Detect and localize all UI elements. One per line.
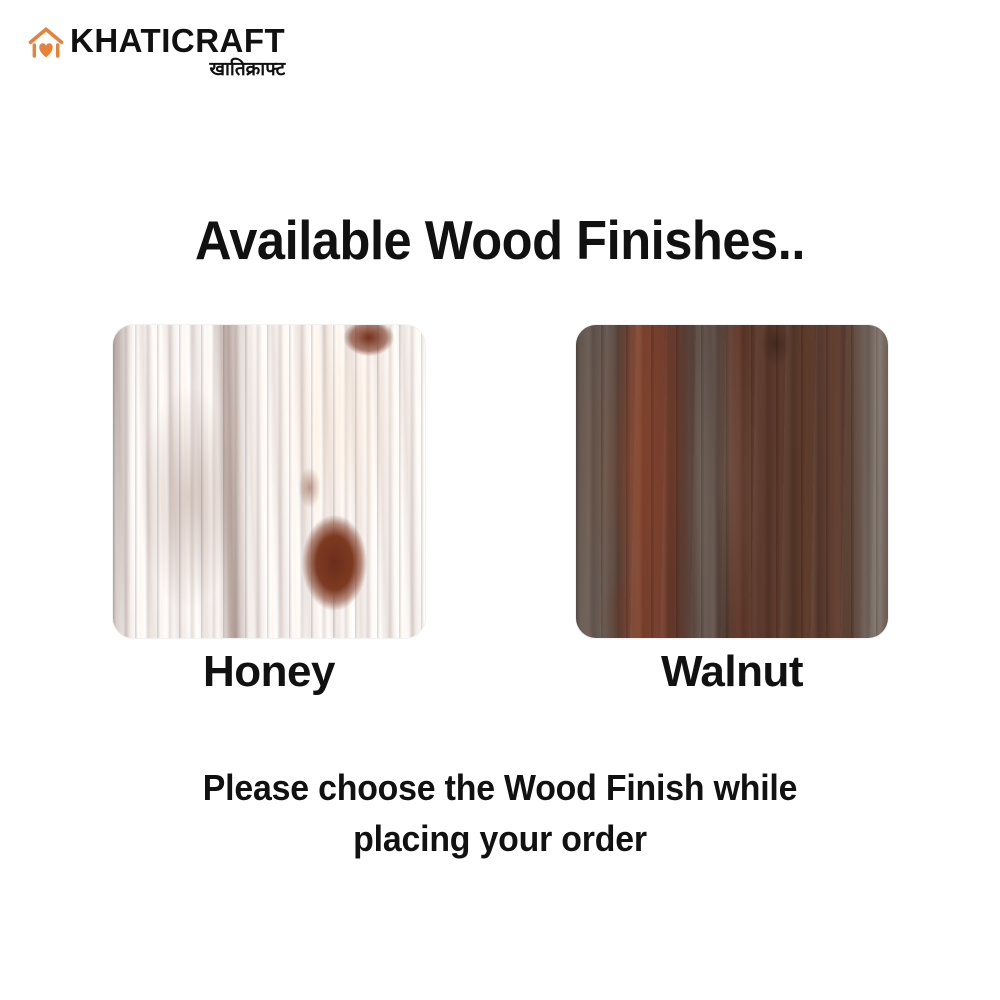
instruction-caption: Please choose the Wood Finish while plac… [0,762,1000,864]
finish-label-walnut: Walnut [576,648,888,696]
brand-name-devanagari: खातिक्राफ्ट [209,59,285,81]
instruction-caption-line-1: Please choose the Wood Finish while [30,762,970,813]
honey-wood-swatch[interactable] [113,325,425,638]
page-title: Available Wood Finishes.. [40,208,960,272]
finish-label-honey: Honey [113,648,425,696]
walnut-knot-layer [576,325,888,638]
house-heart-icon [28,26,64,64]
wood-finish-options: Honey Walnut [0,325,1000,695]
finish-option-walnut[interactable]: Walnut [576,325,888,696]
brand-name: KHATICRAFT [70,24,285,58]
honey-knot-layer [113,325,425,638]
finish-option-honey[interactable]: Honey [113,325,425,696]
instruction-caption-line-2: placing your order [30,813,970,864]
brand-logo[interactable]: KHATICRAFT खातिक्राफ्ट [28,24,285,81]
walnut-wood-swatch[interactable] [576,325,888,638]
